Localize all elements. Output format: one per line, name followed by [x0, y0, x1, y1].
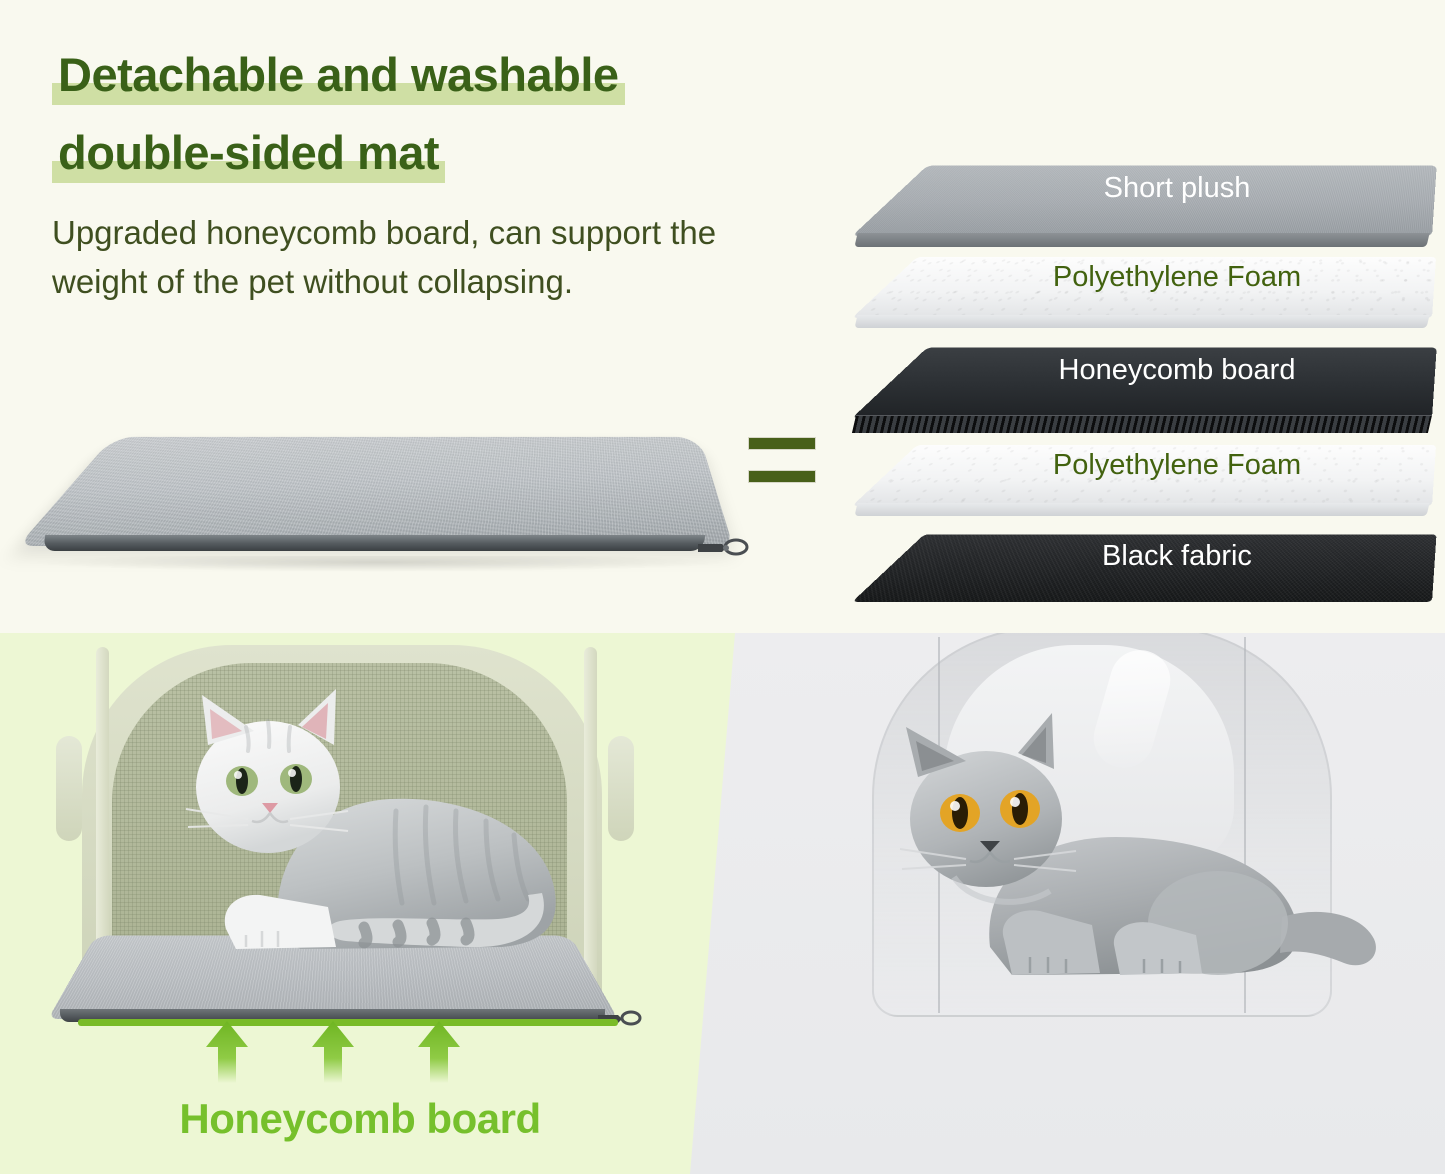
honeycomb-board-caption: Honeycomb board	[60, 1095, 660, 1143]
title-line-1: Detachable and washable	[52, 36, 625, 114]
mat-plush-texture	[18, 437, 733, 546]
title-line-1-text: Detachable and washable	[58, 48, 619, 101]
layer-stack-diagram: Short plush Polyethylene Foam Honeycomb …	[852, 140, 1432, 588]
mat-product-photo	[18, 406, 758, 581]
up-arrow-icon	[312, 1021, 354, 1083]
cat-silver-tabby	[150, 681, 620, 981]
layer-label: Polyethylene Foam	[852, 449, 1432, 482]
mat-top-surface	[18, 437, 733, 546]
layer-label: Honeycomb board	[852, 354, 1432, 387]
comparison-section: Honeycomb board	[0, 633, 1445, 1174]
layer-polyethylene-foam-bottom: Polyethylene Foam	[852, 424, 1432, 506]
up-arrow-icon	[206, 1021, 248, 1083]
up-arrow-icon	[418, 1021, 460, 1083]
subtitle-text: Upgraded honeycomb board, can support th…	[52, 208, 812, 306]
layer-honeycomb-board: Honeycomb board	[852, 322, 1432, 418]
layer-label: Short plush	[852, 172, 1432, 205]
title-line-2-text: double-sided mat	[58, 126, 439, 179]
headline-block: Detachable and washable double-sided mat	[52, 36, 852, 192]
layer-short-plush: Short plush	[852, 140, 1432, 236]
layer-polyethylene-foam-top: Polyethylene Foam	[852, 236, 1432, 318]
cat-british-shorthair	[862, 709, 1382, 1019]
mat-shadow	[28, 556, 728, 572]
equals-sign-icon: =	[748, 437, 816, 499]
layer-label: Black fabric	[852, 540, 1432, 573]
layer-label: Polyethylene Foam	[852, 261, 1432, 294]
top-section: Detachable and washable double-sided mat…	[0, 0, 1445, 633]
infographic-page: Detachable and washable double-sided mat…	[0, 0, 1445, 1174]
title-line-2: double-sided mat	[52, 114, 445, 192]
layer-black-fabric: Black fabric	[852, 510, 1432, 602]
mat-edge	[43, 535, 706, 551]
